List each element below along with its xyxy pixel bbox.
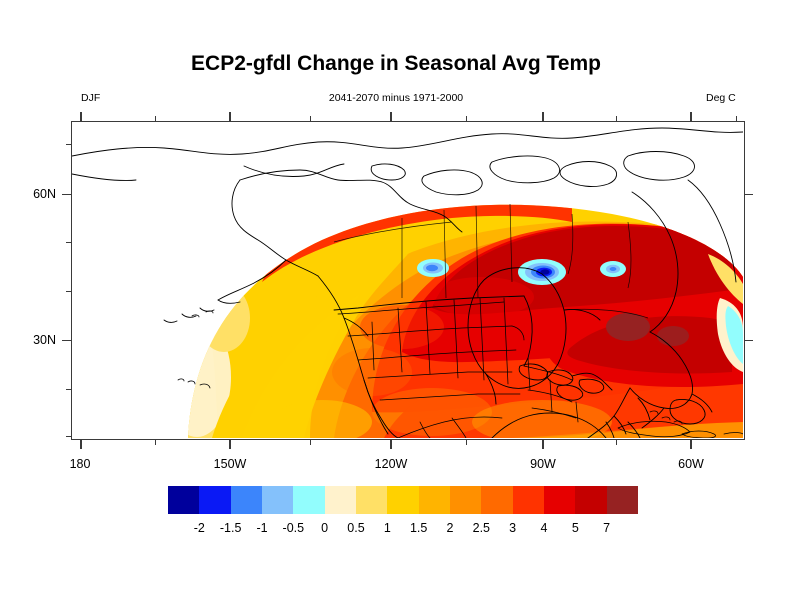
colorbar-tick-label-12: 5 — [572, 521, 579, 535]
xtick-label-120w: 120W — [375, 457, 408, 471]
colorbar-swatch-5 — [325, 486, 356, 514]
colorbar-swatch-12 — [544, 486, 575, 514]
colorbar-tick-label-6: 1 — [384, 521, 391, 535]
xtick-label-90w: 90W — [530, 457, 556, 471]
xtick-label-180: 180 — [70, 457, 91, 471]
colorbar-tick-label-11: 4 — [541, 521, 548, 535]
units-label: Deg C — [706, 92, 736, 104]
colorbar-tick-label-1: -1.5 — [220, 521, 242, 535]
colorbar-swatch-9 — [450, 486, 481, 514]
map-plot-area — [71, 121, 745, 440]
colorbar-tick-label-9: 2.5 — [473, 521, 490, 535]
colorbar-swatch-6 — [356, 486, 387, 514]
page-title: ECP2-gfdl Change in Seasonal Avg Temp — [0, 52, 792, 76]
climate-anomaly-map — [72, 122, 743, 438]
xtick-label-60w: 60W — [678, 457, 704, 471]
colorbar-tick-label-8: 2 — [447, 521, 454, 535]
colorbar-swatch-0 — [168, 486, 199, 514]
colorbar-tick-label-3: -0.5 — [283, 521, 305, 535]
ytick-label-30n: 30N — [22, 333, 56, 347]
colorbar-swatch-4 — [293, 486, 324, 514]
colorbar-swatch-7 — [387, 486, 418, 514]
xtick-label-150w: 150W — [214, 457, 247, 471]
period-label: 2041-2070 minus 1971-2000 — [0, 92, 792, 104]
colorbar-tick-label-4: 0 — [321, 521, 328, 535]
colorbar-tick-label-10: 3 — [509, 521, 516, 535]
ytick-label-60n: 60N — [22, 187, 56, 201]
colorbar-tick-label-7: 1.5 — [410, 521, 427, 535]
colorbar-swatch-8 — [419, 486, 450, 514]
colorbar-tick-label-2: -1 — [256, 521, 267, 535]
colorbar-swatch-2 — [231, 486, 262, 514]
anomaly-field — [72, 122, 743, 438]
colorbar-swatch-10 — [481, 486, 512, 514]
colorbar-swatch-13 — [575, 486, 606, 514]
colorbar — [168, 486, 638, 514]
colorbar-swatch-3 — [262, 486, 293, 514]
colorbar-swatch-14 — [607, 486, 638, 514]
colorbar-tick-label-5: 0.5 — [347, 521, 364, 535]
colorbar-swatch-11 — [513, 486, 544, 514]
colorbar-tick-label-0: -2 — [194, 521, 205, 535]
figure-canvas: ECP2-gfdl Change in Seasonal Avg Temp DJ… — [0, 0, 792, 612]
colorbar-swatch-1 — [199, 486, 230, 514]
colorbar-tick-label-13: 7 — [603, 521, 610, 535]
